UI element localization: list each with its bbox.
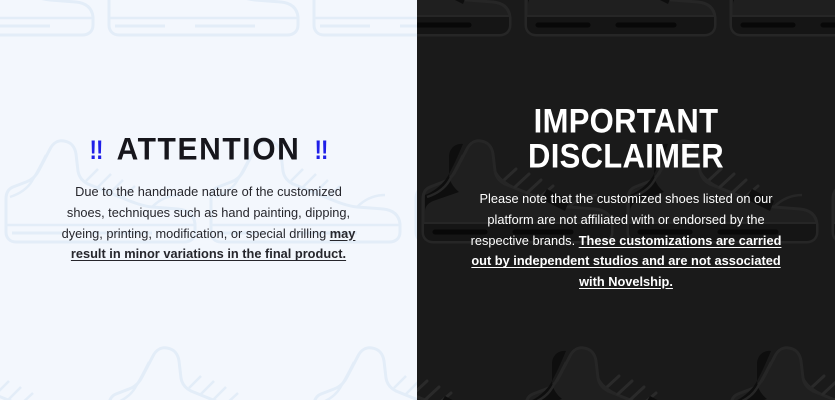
bang-left: !!	[89, 137, 102, 164]
disclaimer-banner: !! ATTENTION !! Due to the handmade natu…	[0, 0, 835, 400]
disclaimer-content: IMPORTANT DISCLAIMER Please note that th…	[417, 0, 835, 400]
disclaimer-heading-line1: IMPORTANT	[528, 104, 724, 139]
bang-right: !!	[315, 137, 328, 164]
disclaimer-panel: IMPORTANT DISCLAIMER Please note that th…	[417, 0, 835, 400]
attention-content: !! ATTENTION !! Due to the handmade natu…	[0, 0, 417, 400]
attention-body: Due to the handmade nature of the custom…	[59, 182, 359, 265]
disclaimer-heading-line2: DISCLAIMER	[528, 139, 724, 174]
attention-heading: !! ATTENTION !!	[88, 135, 330, 165]
attention-title: ATTENTION	[117, 134, 301, 166]
attention-panel: !! ATTENTION !! Due to the handmade natu…	[0, 0, 417, 400]
attention-body-normal: Due to the handmade nature of the custom…	[62, 184, 350, 240]
disclaimer-body: Please note that the customized shoes li…	[467, 189, 785, 293]
disclaimer-heading: IMPORTANT DISCLAIMER	[528, 104, 724, 174]
